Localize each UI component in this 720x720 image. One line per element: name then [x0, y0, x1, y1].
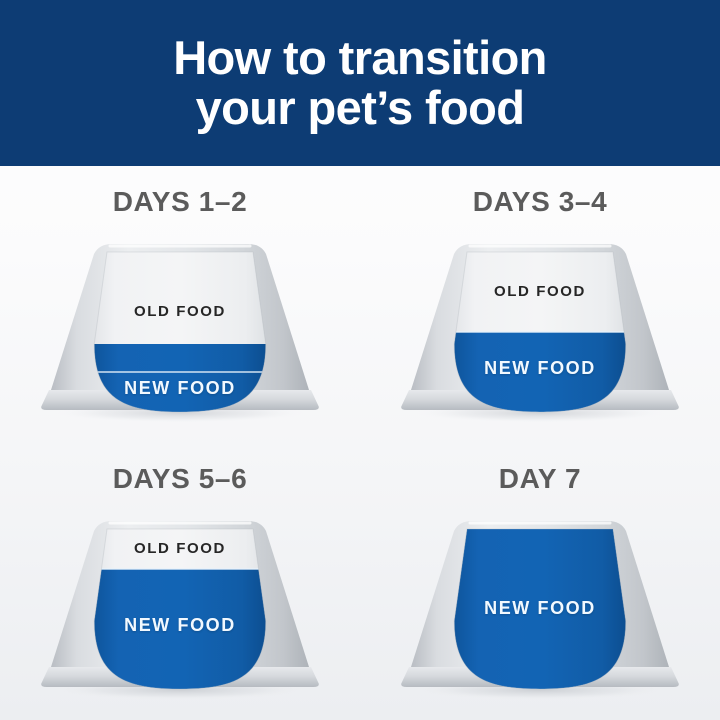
step-card-days-1-2: DAYS 1–2 OLD FOOD NEW FOOD [0, 166, 360, 443]
step-card-day-7: DAY 7 OLD FOOD NEW FOOD [360, 443, 720, 720]
infographic-page: How to transition your pet’s food DAYS 1… [0, 0, 720, 720]
bowl-illustration-icon [393, 230, 687, 430]
bowl-illustration-icon [393, 507, 687, 707]
bowl-illustration-icon [33, 230, 327, 430]
step-title: DAYS 1–2 [113, 186, 248, 218]
food-bowl-day-7: OLD FOOD NEW FOOD [393, 507, 687, 707]
food-bowl-days-3-4: OLD FOOD NEW FOOD [393, 230, 687, 430]
step-title: DAY 7 [499, 463, 581, 495]
header-banner: How to transition your pet’s food [0, 0, 720, 166]
bowl-illustration-icon [33, 507, 327, 707]
step-title: DAYS 3–4 [473, 186, 608, 218]
page-title: How to transition your pet’s food [145, 33, 575, 133]
step-card-days-3-4: DAYS 3–4 OLD FOOD NEW FOOD [360, 166, 720, 443]
food-bowl-days-1-2: OLD FOOD NEW FOOD [33, 230, 327, 430]
transition-steps-grid: DAYS 1–2 OLD FOOD NEW FOOD DAYS 3–4 OLD … [0, 166, 720, 720]
food-bowl-days-5-6: OLD FOOD NEW FOOD [33, 507, 327, 707]
step-card-days-5-6: DAYS 5–6 OLD FOOD NEW FOOD [0, 443, 360, 720]
step-title: DAYS 5–6 [113, 463, 248, 495]
